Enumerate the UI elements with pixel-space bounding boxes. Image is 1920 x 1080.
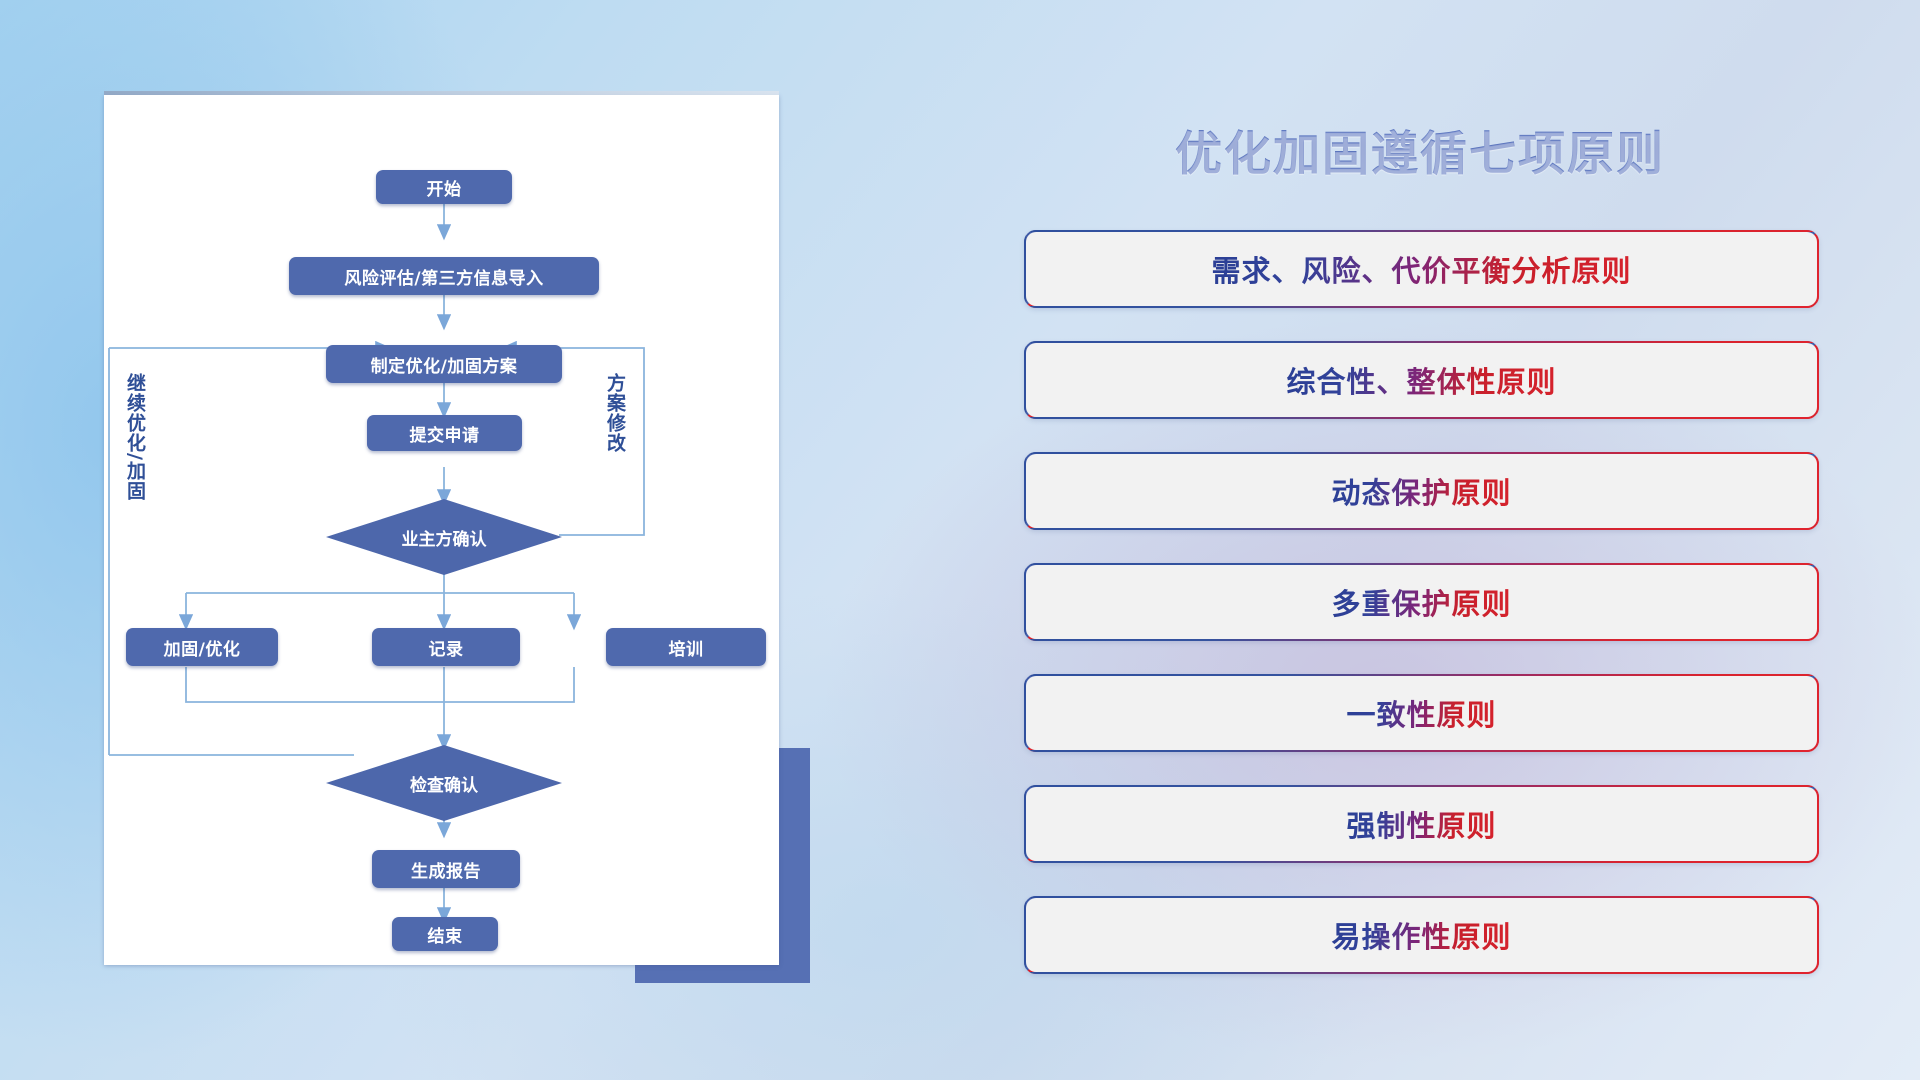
principle-label: 需求、风险、代价平衡分析原则: [1211, 248, 1631, 290]
flow-node-label: 加固/优化: [164, 635, 241, 660]
principle-item[interactable]: 一致性原则: [1024, 674, 1819, 752]
principles-list: 需求、风险、代价平衡分析原则 综合性、整体性原则 动态保护原则 多重保护原则 一…: [1024, 230, 1819, 1007]
flow-edge-label-continue-optimize: 继续优化/加固: [124, 373, 144, 543]
flow-decision-check-confirm[interactable]: 检查确认: [326, 745, 562, 821]
principle-item[interactable]: 动态保护原则: [1024, 452, 1819, 530]
page-title: 优化加固遵循七项原则: [1010, 115, 1830, 184]
flowchart-card: 开始 风险评估/第三方信息导入 制定优化/加固方案 提交申请 加固/优化 记录 …: [104, 95, 779, 965]
flow-node-make-plan[interactable]: 制定优化/加固方案: [326, 345, 562, 383]
flow-node-label: 开始: [427, 175, 462, 200]
flow-node-label: 制定优化/加固方案: [371, 352, 518, 377]
flow-node-label: 提交申请: [410, 421, 480, 446]
principle-label: 综合性、整体性原则: [1286, 359, 1556, 401]
flow-node-start[interactable]: 开始: [376, 170, 512, 204]
principle-item[interactable]: 易操作性原则: [1024, 896, 1819, 974]
principle-item[interactable]: 综合性、整体性原则: [1024, 341, 1819, 419]
flow-node-label: 生成报告: [411, 857, 481, 882]
principle-item[interactable]: 多重保护原则: [1024, 563, 1819, 641]
flow-node-record[interactable]: 记录: [372, 628, 520, 666]
principles-panel: 优化加固遵循七项原则 需求、风险、代价平衡分析原则 综合性、整体性原则 动态保护…: [1010, 95, 1830, 1015]
flow-node-risk-assessment[interactable]: 风险评估/第三方信息导入: [289, 257, 599, 295]
principle-label: 动态保护原则: [1331, 470, 1511, 512]
flow-node-label: 记录: [429, 635, 464, 660]
flow-node-label: 培训: [669, 635, 704, 660]
principle-label: 一致性原则: [1346, 692, 1496, 734]
principle-item[interactable]: 需求、风险、代价平衡分析原则: [1024, 230, 1819, 308]
flow-node-reinforce-optimize[interactable]: 加固/优化: [126, 628, 278, 666]
principle-label: 强制性原则: [1346, 803, 1496, 845]
flow-node-generate-report[interactable]: 生成报告: [372, 850, 520, 888]
principle-label: 多重保护原则: [1331, 581, 1511, 623]
flow-node-training[interactable]: 培训: [606, 628, 766, 666]
flow-edge-label-plan-revision: 方案修改: [604, 373, 624, 493]
flow-node-label: 结束: [428, 922, 463, 947]
flow-decision-owner-confirm[interactable]: 业主方确认: [326, 499, 562, 575]
flow-node-submit-application[interactable]: 提交申请: [367, 415, 522, 451]
flow-node-label: 风险评估/第三方信息导入: [344, 264, 543, 289]
principle-item[interactable]: 强制性原则: [1024, 785, 1819, 863]
principle-label: 易操作性原则: [1331, 914, 1511, 956]
flow-node-end[interactable]: 结束: [392, 917, 498, 951]
flowchart: 开始 风险评估/第三方信息导入 制定优化/加固方案 提交申请 加固/优化 记录 …: [104, 95, 779, 965]
